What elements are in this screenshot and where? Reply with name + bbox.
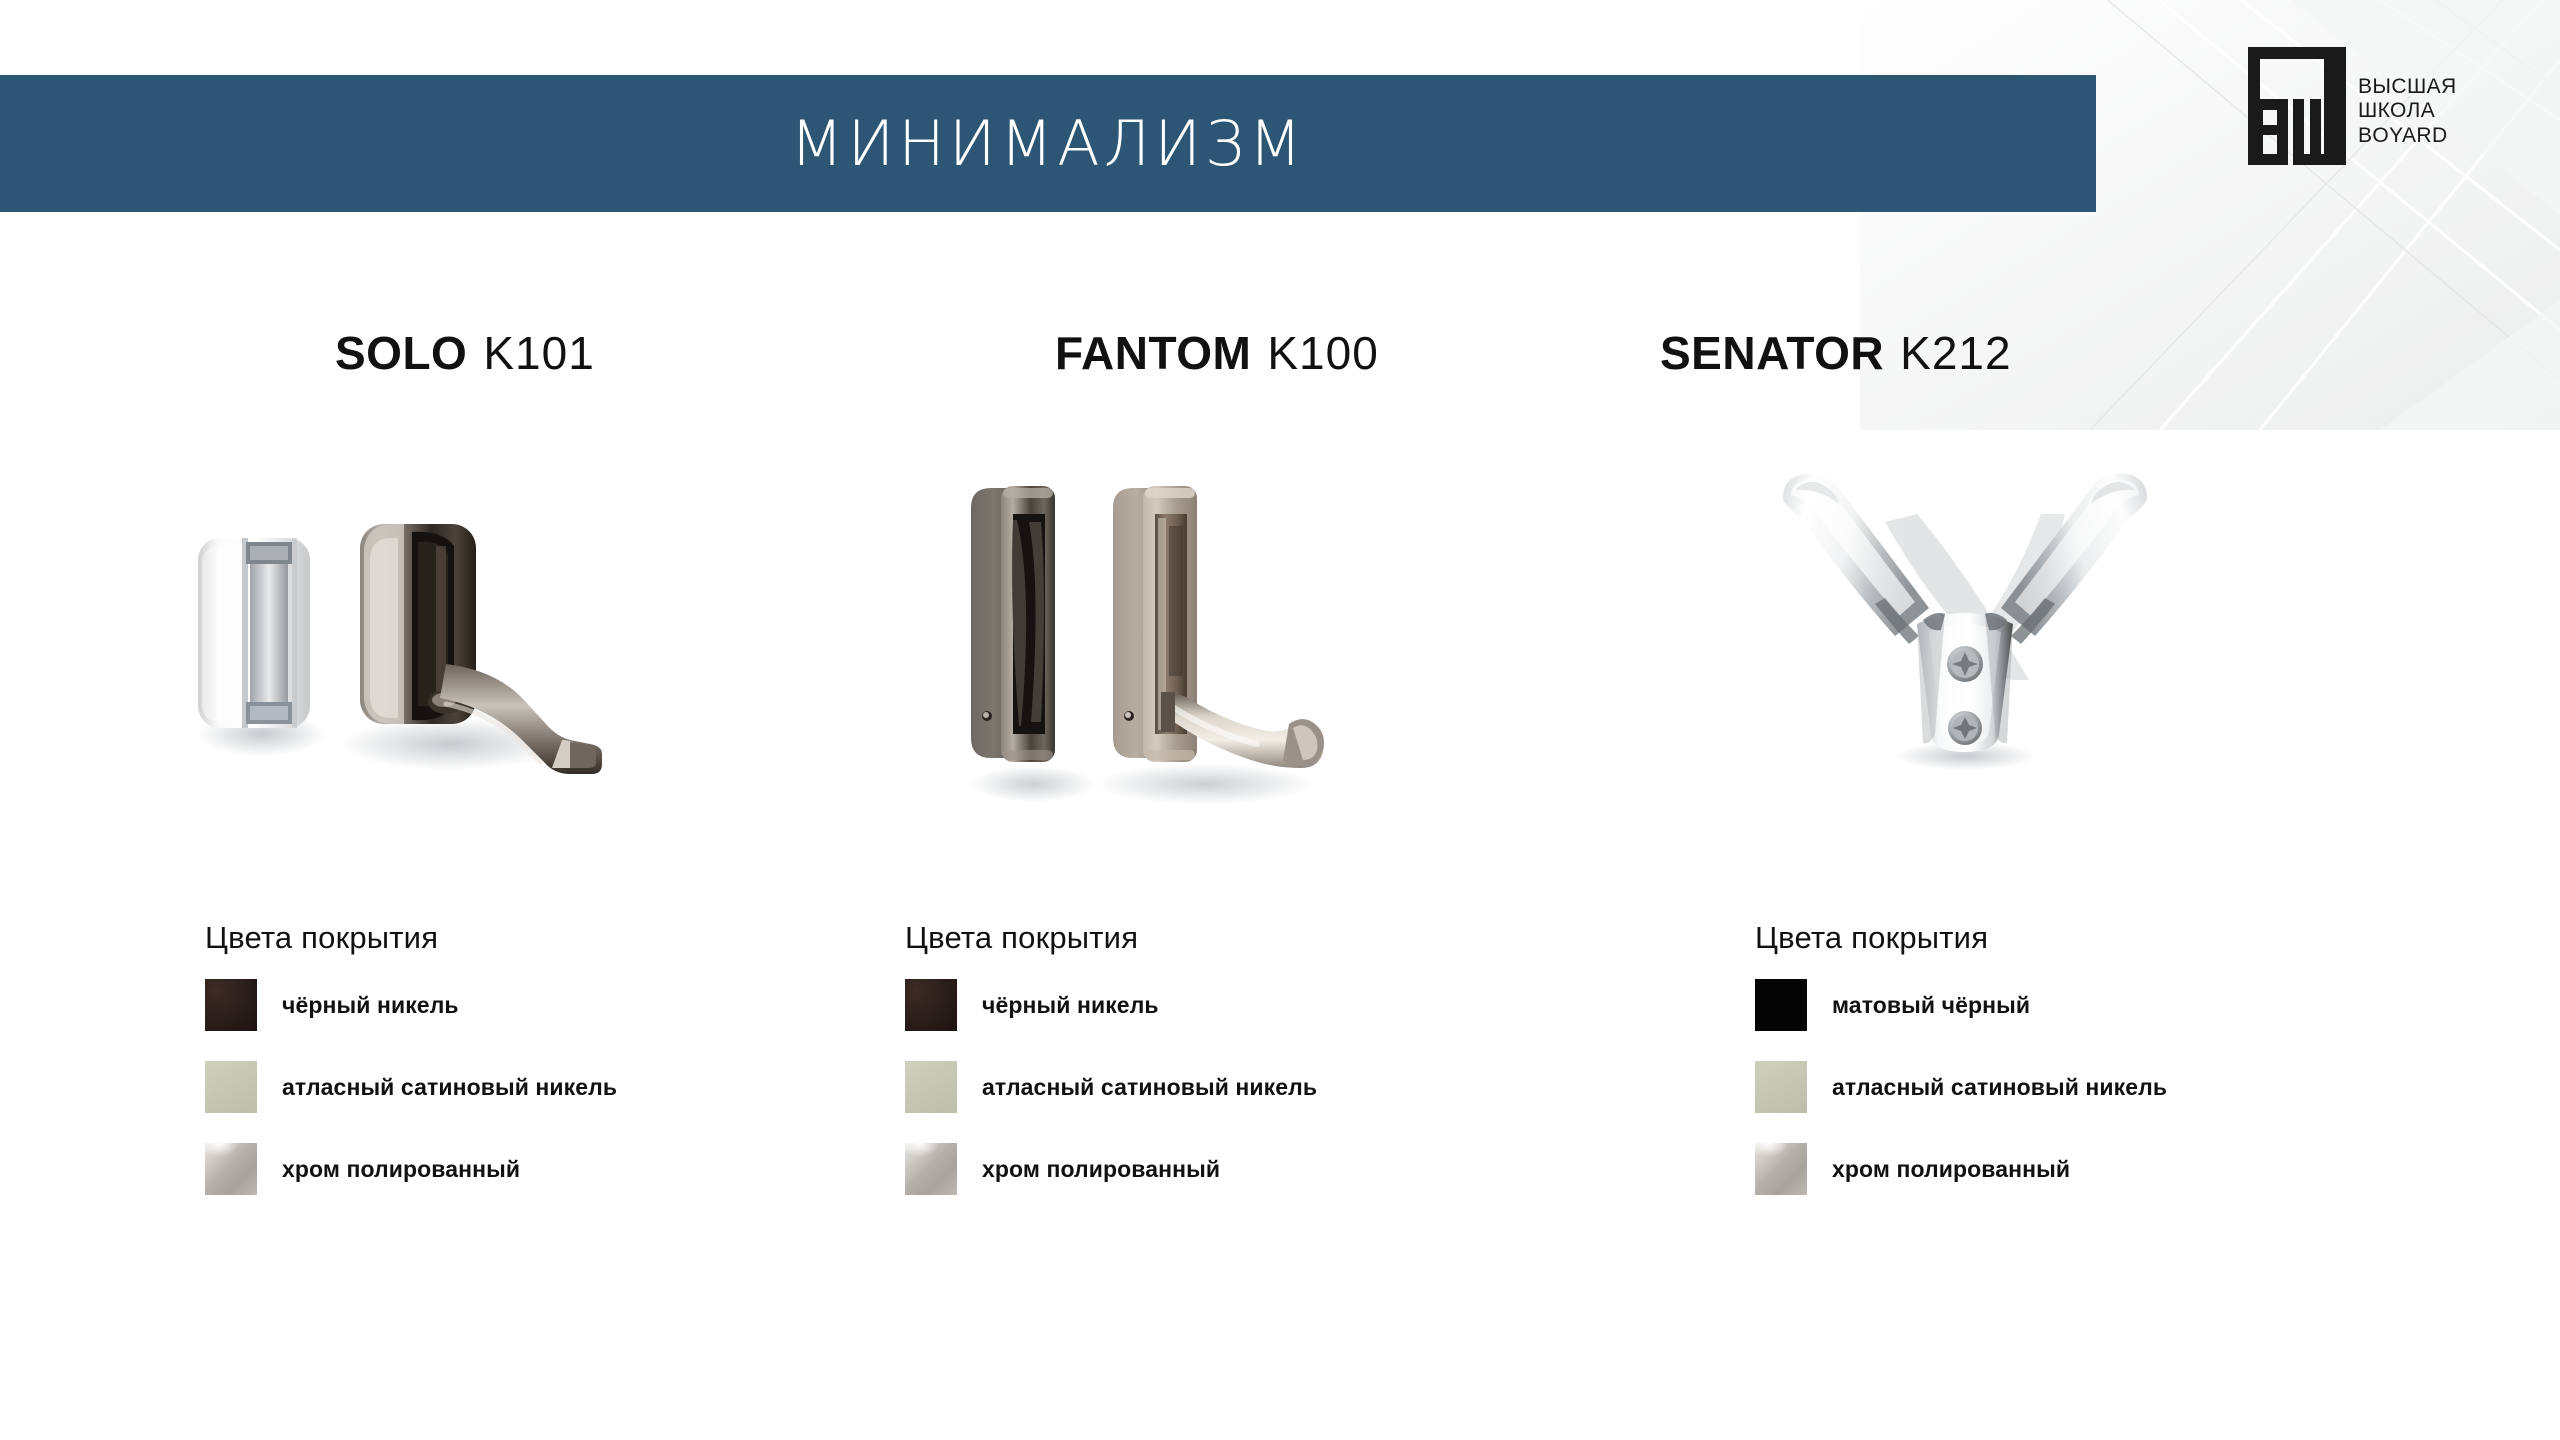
- finish-swatch: [905, 979, 957, 1031]
- finish-label: атласный сатиновый никель: [1832, 1074, 2167, 1101]
- logo-wordmark: ВЫСШАЯ ШКОЛА BOYARD: [2358, 75, 2457, 148]
- finish-legend-solo: Цвета покрытия чёрный никель атласный са…: [205, 920, 617, 1226]
- logo-line-3: BOYARD: [2358, 124, 2457, 148]
- product-column-senator: SENATORK212: [1190, 330, 1950, 866]
- slide-title: МИНИМАЛИЗМ: [790, 113, 1306, 175]
- vsh-logo-icon: [2248, 47, 2346, 165]
- finish-label: хром полированный: [282, 1156, 520, 1183]
- presentation-slide: МИНИМАЛИЗМ: [0, 0, 2560, 1440]
- finish-row: атласный сатиновый никель: [205, 1062, 617, 1112]
- finish-swatch: [1755, 1143, 1807, 1195]
- finish-label: хром полированный: [1832, 1156, 2070, 1183]
- logo-line-1: ВЫСШАЯ: [2358, 75, 2457, 99]
- header-banner: МИНИМАЛИЗМ: [0, 75, 2096, 212]
- product-name: SOLO: [335, 327, 467, 379]
- product-name: SENATOR: [1660, 327, 1884, 379]
- finish-label: матовый чёрный: [1832, 992, 2030, 1019]
- finish-row: чёрный никель: [205, 980, 617, 1030]
- finish-row: атласный сатиновый никель: [905, 1062, 1317, 1112]
- product-image-senator: [1190, 446, 1950, 866]
- finish-label: атласный сатиновый никель: [982, 1074, 1317, 1101]
- finish-legend-title: Цвета покрытия: [205, 920, 617, 956]
- finish-swatch: [205, 979, 257, 1031]
- finish-swatch: [1755, 1061, 1807, 1113]
- finish-swatch: [205, 1143, 257, 1195]
- product-columns: SOLOK101: [0, 330, 2560, 1330]
- finish-row: чёрный никель: [905, 980, 1317, 1030]
- finish-label: чёрный никель: [982, 992, 1159, 1019]
- finish-row: атласный сатиновый никель: [1755, 1062, 2167, 1112]
- finish-row: хром полированный: [905, 1144, 1317, 1194]
- finish-swatch: [205, 1061, 257, 1113]
- logo-line-2: ШКОЛА: [2358, 99, 2457, 123]
- finish-legend-senator: Цвета покрытия матовый чёрный атласный с…: [1755, 920, 2167, 1226]
- finish-row: матовый чёрный: [1755, 980, 2167, 1030]
- product-code: K212: [1900, 327, 2011, 379]
- finish-row: хром полированный: [1755, 1144, 2167, 1194]
- finish-row: хром полированный: [205, 1144, 617, 1194]
- finish-legend-title: Цвета покрытия: [905, 920, 1317, 956]
- finish-label: хром полированный: [982, 1156, 1220, 1183]
- finish-label: чёрный никель: [282, 992, 459, 1019]
- finish-swatch: [905, 1143, 957, 1195]
- finish-legend-fantom: Цвета покрытия чёрный никель атласный са…: [905, 920, 1317, 1226]
- finish-legend-title: Цвета покрытия: [1755, 920, 2167, 956]
- finish-swatch: [1755, 979, 1807, 1031]
- product-title-senator: SENATORK212: [1660, 330, 1950, 376]
- boyard-logo: ВЫСШАЯ ШКОЛА BOYARD: [2248, 47, 2498, 165]
- product-code: K101: [483, 327, 594, 379]
- finish-label: атласный сатиновый никель: [282, 1074, 617, 1101]
- finish-swatch: [905, 1061, 957, 1113]
